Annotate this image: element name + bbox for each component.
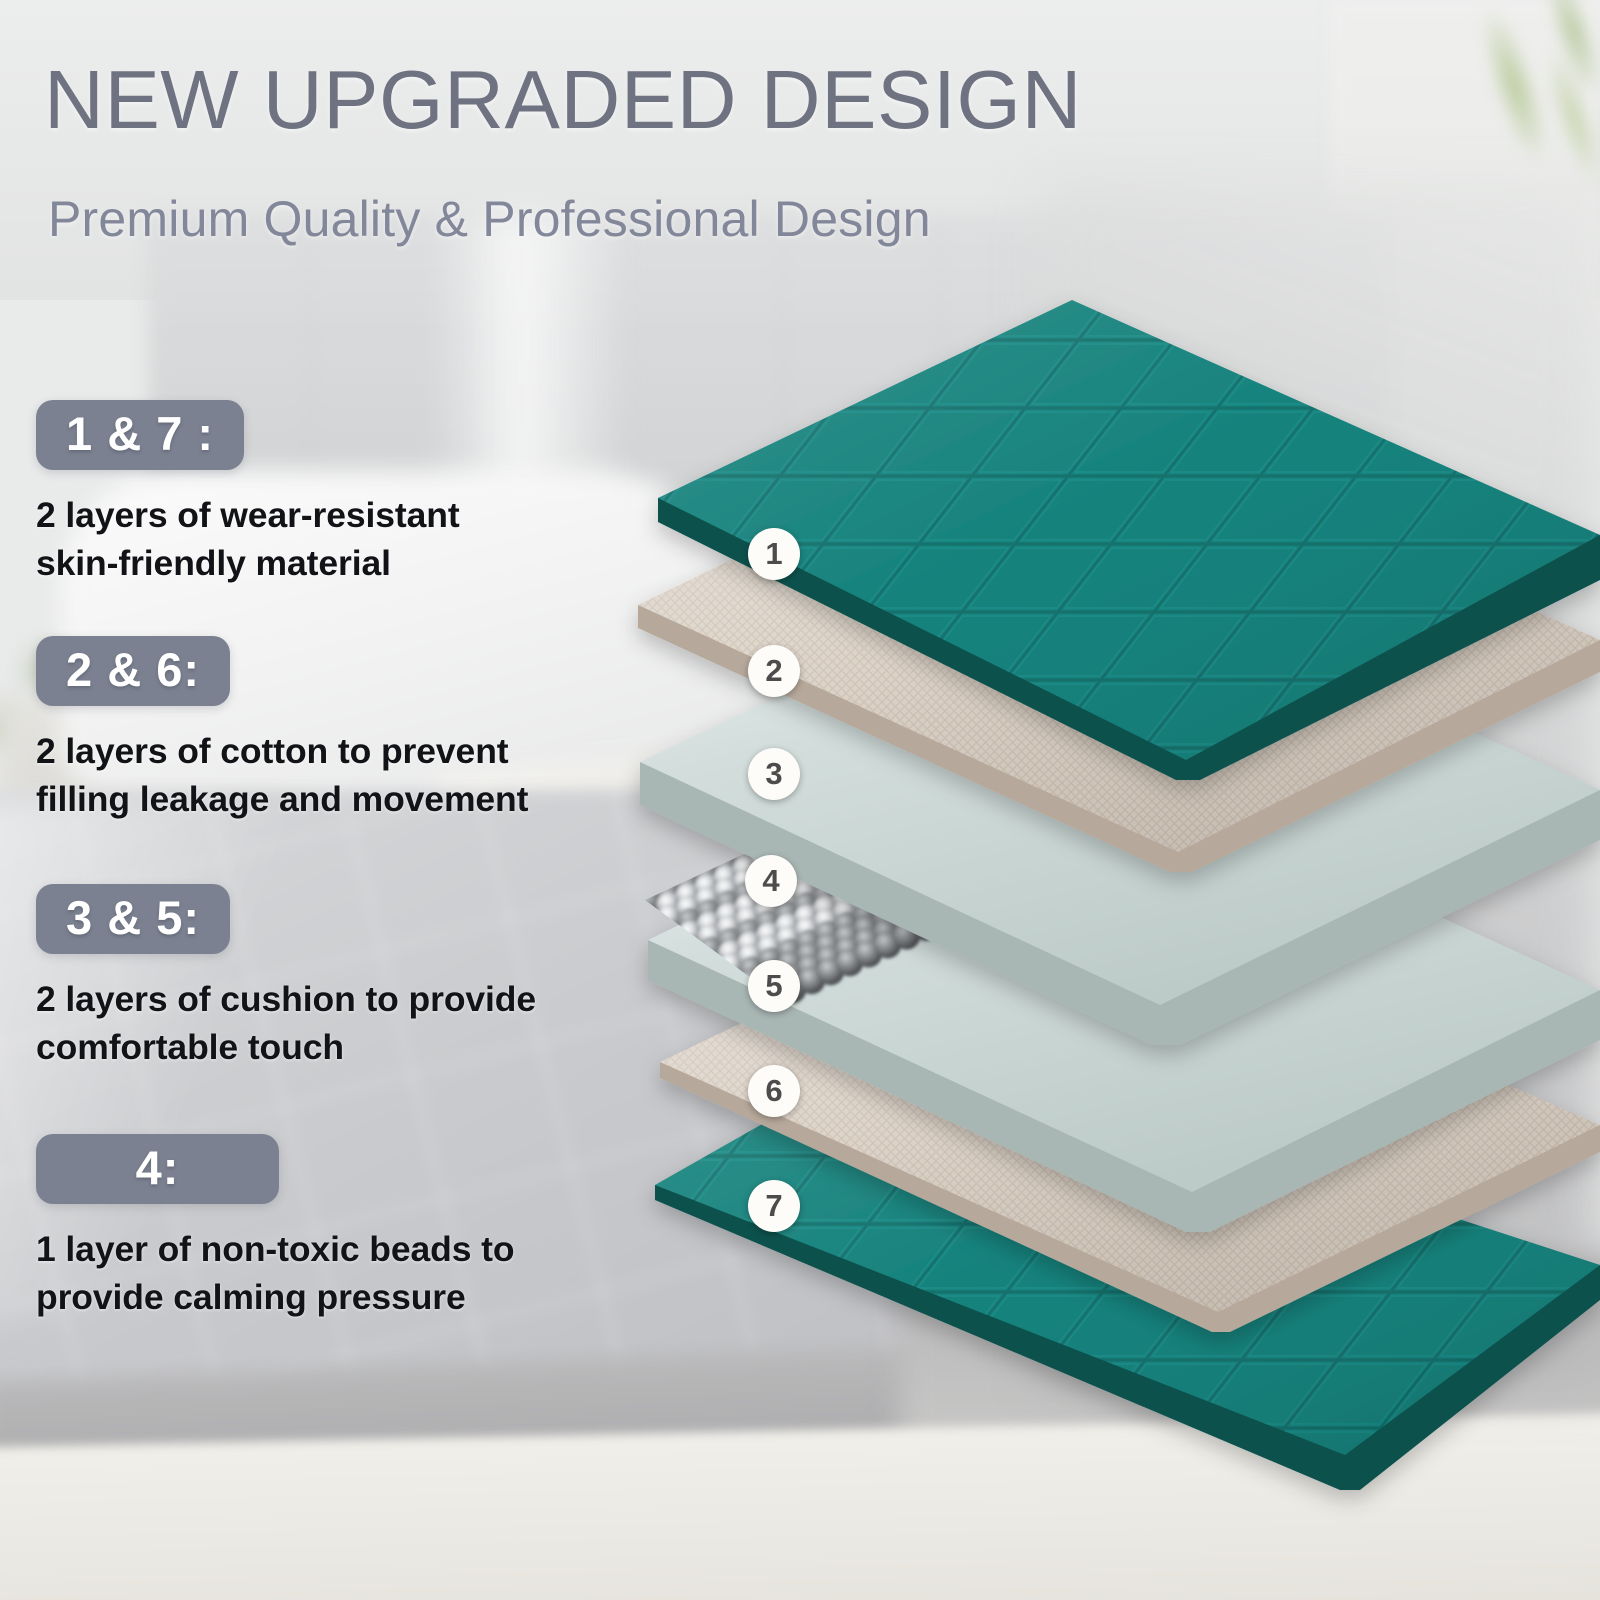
feature-block-3: 3 & 5: 2 layers of cushion to provide co… — [36, 884, 536, 1071]
page-title: NEW UPGRADED DESIGN — [44, 52, 1082, 148]
badge-2-and-6: 2 & 6: — [36, 636, 230, 706]
feature-description-1: 2 layers of wear-resistant skin-friendly… — [36, 492, 460, 586]
feature-block-1: 1 & 7 : 2 layers of wear-resistant skin-… — [36, 400, 460, 587]
feature-description-1-line-2: skin-friendly material — [36, 540, 460, 587]
feature-description-2-line-1: 2 layers of cotton to prevent — [36, 728, 528, 775]
badge-2-and-6-label: 2 & 6: — [66, 645, 200, 694]
badge-4: 4: — [36, 1134, 279, 1204]
badge-3-and-5: 3 & 5: — [36, 884, 230, 954]
feature-block-2: 2 & 6: 2 layers of cotton to prevent fil… — [36, 636, 528, 823]
badge-1-and-7: 1 & 7 : — [36, 400, 244, 470]
feature-description-1-line-1: 2 layers of wear-resistant — [36, 492, 460, 539]
feature-description-3-line-2: comfortable touch — [36, 1024, 536, 1071]
layer-marker-3[interactable]: 3 — [748, 748, 800, 800]
feature-block-4: 4: 1 layer of non-toxic beads to provide… — [36, 1134, 514, 1321]
badge-1-and-7-label: 1 & 7 : — [66, 409, 214, 458]
feature-description-3: 2 layers of cushion to provide comfortab… — [36, 976, 536, 1070]
layer-marker-5[interactable]: 5 — [748, 960, 800, 1012]
layer-marker-6[interactable]: 6 — [748, 1065, 800, 1117]
badge-4-label: 4: — [136, 1143, 180, 1192]
feature-description-2-line-2: filling leakage and movement — [36, 776, 528, 823]
layer-marker-4[interactable]: 4 — [745, 855, 797, 907]
feature-description-4-line-1: 1 layer of non-toxic beads to — [36, 1226, 514, 1273]
badge-3-and-5-label: 3 & 5: — [66, 893, 200, 942]
feature-description-2: 2 layers of cotton to prevent filling le… — [36, 728, 528, 822]
feature-description-3-line-1: 2 layers of cushion to provide — [36, 976, 536, 1023]
feature-description-4: 1 layer of non-toxic beads to provide ca… — [36, 1226, 514, 1320]
feature-description-4-line-2: provide calming pressure — [36, 1274, 514, 1321]
layer-marker-2[interactable]: 2 — [748, 645, 800, 697]
layer-marker-7[interactable]: 7 — [748, 1180, 800, 1232]
layer-marker-1[interactable]: 1 — [748, 528, 800, 580]
page-subtitle: Premium Quality & Professional Design — [48, 190, 931, 248]
